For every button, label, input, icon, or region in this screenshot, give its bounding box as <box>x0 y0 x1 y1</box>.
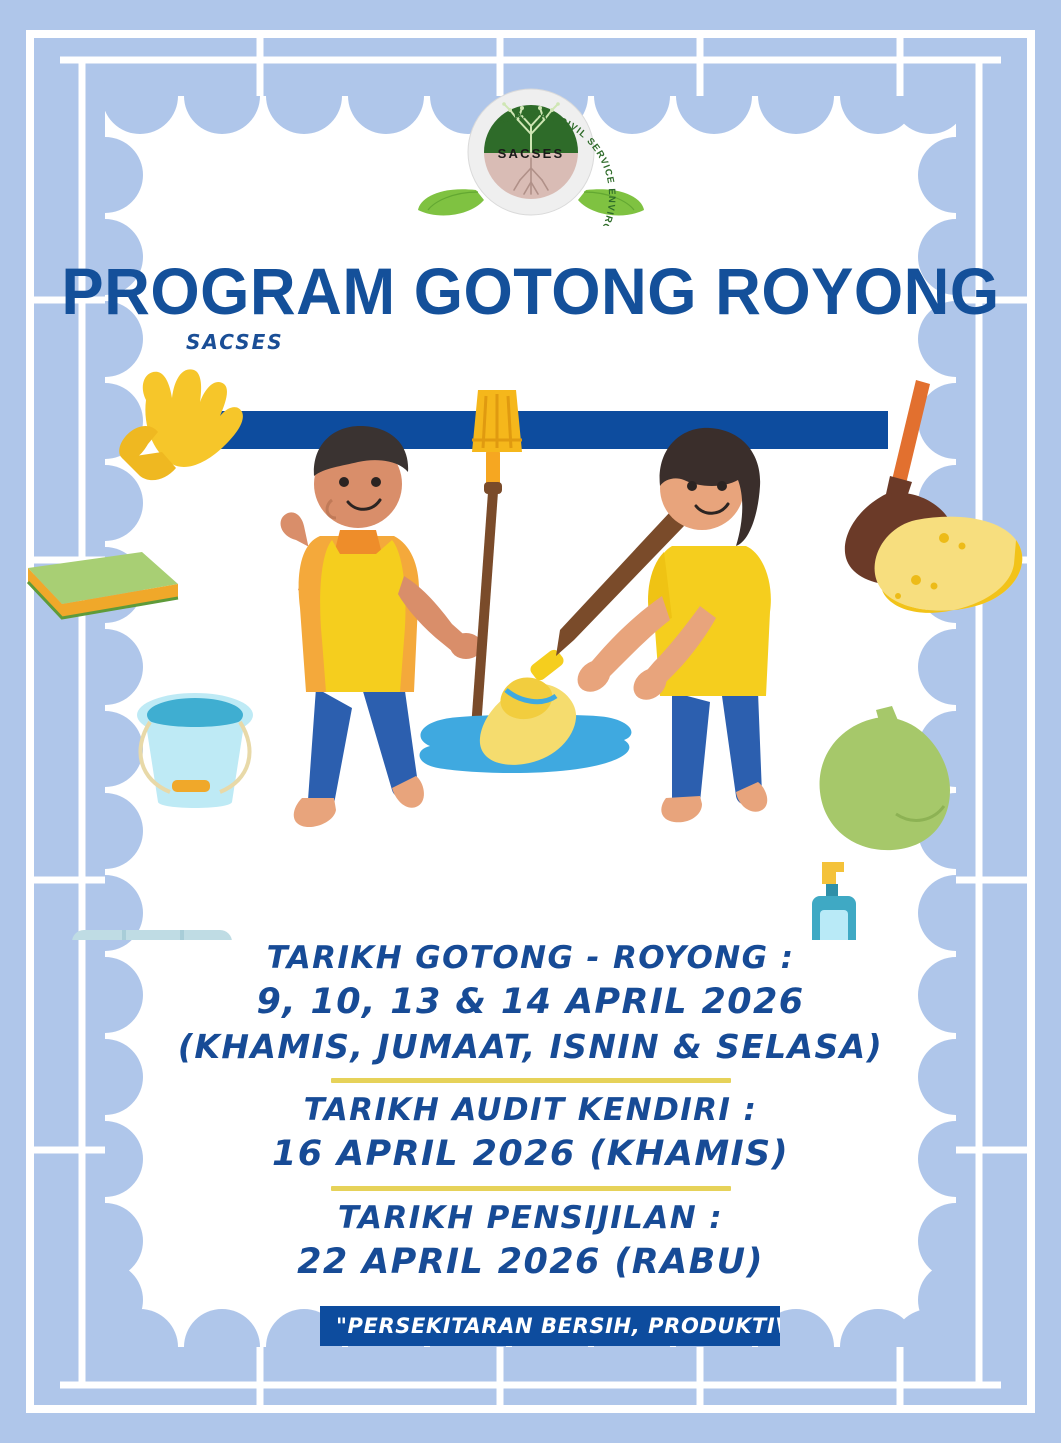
audit-kendiri-dates: 16 APRIL 2026 (KHAMIS) <box>0 1131 1061 1177</box>
sacses-logo: SACSES SARAWAK CIVIL SERVICE ENVIRONMENT… <box>418 86 644 226</box>
logo-center-text: SACSES <box>498 146 565 161</box>
poster-title: PROGRAM GOTONG ROYONG <box>21 258 1040 324</box>
rubber-gloves-icon <box>119 369 243 480</box>
audit-kendiri-label: TARIKH AUDIT KENDIRI : <box>0 1090 1061 1131</box>
gotong-royong-days: (KHAMIS, JUMAAT, ISNIN & SELASA) <box>0 1025 1061 1069</box>
cleaning-illustration <box>0 340 1061 940</box>
sponge-cloth-icon <box>28 552 178 618</box>
gotong-royong-dates: 9, 10, 13 & 14 APRIL 2026 <box>0 979 1061 1025</box>
divider-line-1 <box>331 1078 731 1083</box>
pensijilan-label: TARIKH PENSIJILAN : <box>0 1198 1061 1239</box>
title-block: PROGRAM GOTONG ROYONG SACSES <box>0 258 1061 324</box>
water-bucket-icon <box>137 693 253 808</box>
tagline-text: "PERSEKITARAN BERSIH, PRODUKTIVITI MENIN… <box>320 1306 780 1346</box>
yellow-sponge-icon <box>875 517 1023 613</box>
poster-canvas: SACSES SARAWAK CIVIL SERVICE ENVIRONMENT… <box>0 0 1061 1443</box>
soap-dispenser-icon <box>812 862 856 940</box>
tagline-banner: "PERSEKITARAN BERSIH, PRODUKTIVITI MENIN… <box>320 1306 780 1346</box>
pensijilan-dates: 22 APRIL 2026 (RABU) <box>0 1239 1061 1285</box>
divider-line-2 <box>331 1186 731 1191</box>
schedule-block: TARIKH GOTONG - ROYONG : 9, 10, 13 & 14 … <box>0 938 1061 1285</box>
garbage-bag-icon <box>820 706 950 850</box>
gotong-royong-label: TARIKH GOTONG - ROYONG : <box>0 938 1061 979</box>
